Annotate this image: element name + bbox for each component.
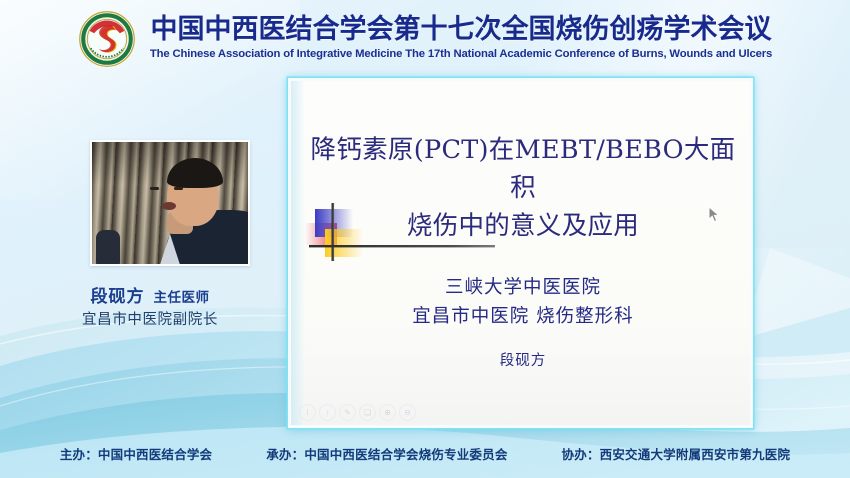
- zoom-in-icon[interactable]: ⊕: [379, 404, 396, 421]
- webcam-video-feed: [92, 142, 248, 264]
- speaker-name-line: 段砚方主任医师: [0, 282, 300, 307]
- slide-author: 段砚方: [309, 349, 737, 370]
- speaker-title: 主任医师: [154, 290, 210, 306]
- chair-armrest-left: [96, 230, 120, 264]
- footer-organizer: 承办：中国中西医结合学会烧伤专业委员会: [266, 444, 507, 463]
- conference-title-en: The Chinese Association of Integrative M…: [150, 47, 772, 62]
- slide-organization: 三峡大学中医医院 宜昌市中医院 烧伤整形科: [309, 273, 737, 331]
- conference-title-cn: 中国中西医结合学会第十七次全国烧伤创疡学术会议: [150, 15, 771, 45]
- slide-org-line-1: 三峡大学中医医院: [309, 273, 737, 302]
- caim-circular-emblem-icon: [78, 10, 136, 68]
- speaker-video-tile[interactable]: [90, 140, 250, 266]
- presentation-slide[interactable]: 降钙素原(PCT)在MEBT/BEBO大面积 烧伤中的意义及应用: [288, 78, 753, 428]
- footer-co-organizer: 协办：西安交通大学附属西安市第九医院: [562, 444, 791, 463]
- slide-org-line-2: 宜昌市中医院 烧伤整形科: [309, 302, 737, 331]
- slide-title-line-1: 降钙素原(PCT)在MEBT/BEBO大面积: [311, 135, 736, 203]
- conference-footer: 主办：中国中西医结合学会 承办：中国中西医结合学会烧伤专业委员会 协办：西安交通…: [0, 428, 850, 478]
- slide-canvas: 降钙素原(PCT)在MEBT/BEBO大面积 烧伤中的意义及应用: [291, 81, 750, 425]
- speaker-mouth: [162, 202, 176, 210]
- info-icon[interactable]: i: [299, 404, 316, 421]
- mouse-pointer-icon: [708, 206, 720, 223]
- zoom-out-icon[interactable]: ⊖: [399, 404, 416, 421]
- footer-host: 主办：中国中西医结合学会: [60, 444, 212, 463]
- speaker-eye-left: [150, 187, 159, 190]
- webinar-screen: 中国中西医结合学会第十七次全国烧伤创疡学术会议 The Chinese Asso…: [0, 0, 850, 478]
- comment-icon[interactable]: ❏: [359, 404, 376, 421]
- colored-squares-crosshair-decoration: [299, 201, 599, 273]
- speaker-eye-right: [174, 187, 183, 190]
- speaker-name: 段砚方: [91, 287, 145, 307]
- conference-header: 中国中西医结合学会第十七次全国烧伤创疡学术会议 The Chinese Asso…: [0, 0, 850, 76]
- speaker-role: 宜昌市中医院副院长: [0, 308, 300, 329]
- slide-toolbar[interactable]: i ↑ ✎ ❏ ⊕ ⊖: [299, 404, 416, 421]
- pointer-icon[interactable]: ↑: [319, 404, 336, 421]
- pen-icon[interactable]: ✎: [339, 404, 356, 421]
